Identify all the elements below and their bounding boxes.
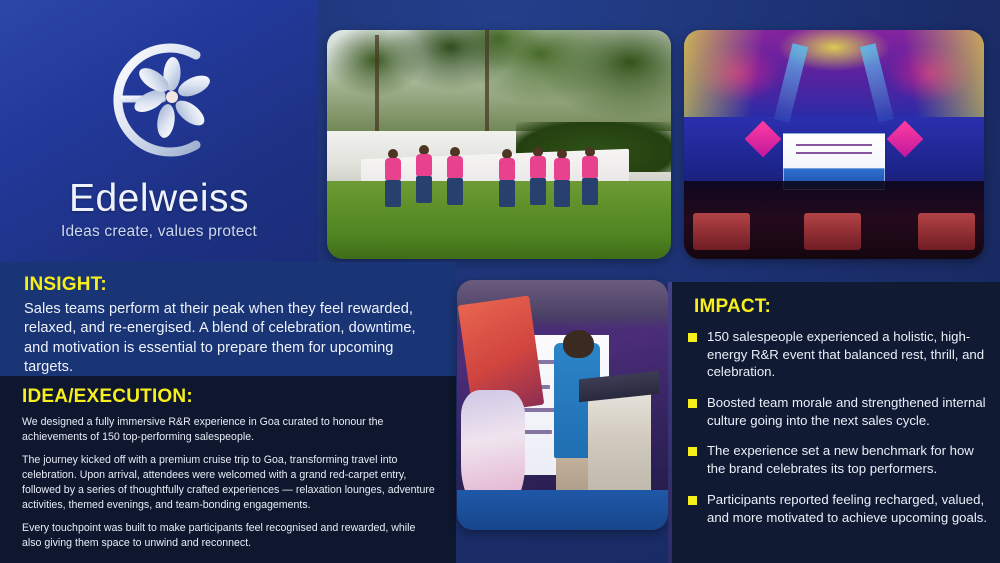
insight-body: Sales teams perform at their peak when t… [24, 300, 438, 378]
event-hall-photo [684, 30, 984, 259]
idea-heading: IDEA/EXECUTION: [22, 386, 436, 408]
square-bullet-icon [688, 447, 697, 456]
idea-paragraph: Every touchpoint was built to make parti… [22, 521, 436, 551]
list-item: Participants reported feeling recharged,… [688, 491, 990, 526]
lawn-team-photo [327, 30, 671, 259]
list-item: Boosted team morale and strengthened int… [688, 394, 990, 429]
square-bullet-icon [688, 333, 697, 342]
square-bullet-icon [688, 496, 697, 505]
idea-paragraph: We designed a fully immersive R&R experi… [22, 415, 436, 445]
edelweiss-flower-c-logo-icon [84, 25, 234, 175]
insight-heading: INSIGHT: [24, 274, 438, 296]
impact-panel: IMPACT: 150 salespeople experienced a ho… [672, 282, 1000, 563]
list-item: 150 salespeople experienced a holistic, … [688, 328, 990, 381]
impact-item-text: Boosted team morale and strengthened int… [707, 394, 990, 429]
brand-name: Edelweiss [69, 179, 249, 218]
slide-canvas: Edelweiss Ideas create, values protect [0, 0, 1000, 563]
impact-heading: IMPACT: [694, 296, 990, 318]
brand-tagline: Ideas create, values protect [61, 223, 257, 241]
idea-paragraph: The journey kicked off with a premium cr… [22, 453, 436, 513]
impact-item-text: Participants reported feeling recharged,… [707, 491, 990, 526]
insight-panel: INSIGHT: Sales teams perform at their pe… [0, 262, 456, 376]
brand-logo-block: Edelweiss Ideas create, values protect [0, 0, 318, 262]
idea-body: We designed a fully immersive R&R experi… [22, 415, 436, 551]
speaker-podium-photo [457, 280, 668, 530]
impact-item-text: The experience set a new benchmark for h… [707, 442, 990, 477]
impact-item-text: 150 salespeople experienced a holistic, … [707, 328, 990, 381]
square-bullet-icon [688, 399, 697, 408]
idea-execution-panel: IDEA/EXECUTION: We designed a fully imme… [0, 376, 456, 563]
impact-list: 150 salespeople experienced a holistic, … [688, 328, 990, 526]
list-item: The experience set a new benchmark for h… [688, 442, 990, 477]
